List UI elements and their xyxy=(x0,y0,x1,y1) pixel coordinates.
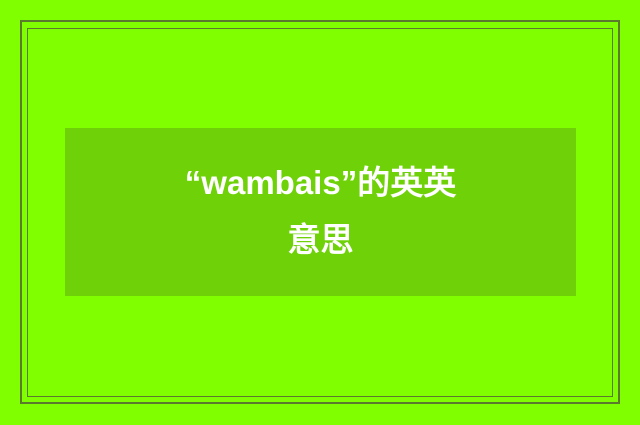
headline-banner: “wambais”的英英意思 xyxy=(65,128,576,296)
page-canvas: “wambais”的英英意思 xyxy=(0,0,640,425)
headline-title: “wambais”的英英意思 xyxy=(176,155,466,269)
